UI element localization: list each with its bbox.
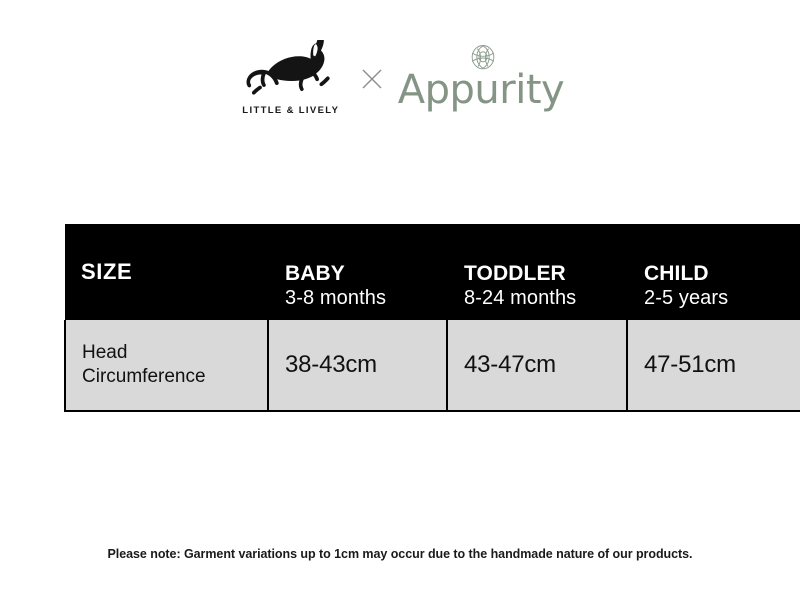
brand-left-label: LITTLE & LIVELY <box>242 105 339 116</box>
cross-icon <box>360 67 384 91</box>
table-header-cell-size: SIZE <box>65 224 268 320</box>
table-body: Head Circumference 38-43cm 43-47cm 47-51… <box>65 320 800 411</box>
table-cell-baby-value: 38-43cm <box>268 320 447 411</box>
measurement-label: Head Circumference <box>82 342 206 387</box>
table-cell-measurement-label: Head Circumference <box>65 320 268 411</box>
brand-right-label: Appurity <box>398 70 564 110</box>
measurement-value-toddler: 43-47cm <box>464 351 556 378</box>
table-header: SIZE BABY 3-8 months TODDLER 8-24 months… <box>65 224 800 320</box>
bunny-icon <box>241 40 341 98</box>
table-row: Head Circumference 38-43cm 43-47cm 47-51… <box>65 320 800 411</box>
table-header-toddler-main: TODDLER <box>464 262 626 286</box>
table-header-row: SIZE BABY 3-8 months TODDLER 8-24 months… <box>65 224 800 320</box>
table-header-cell-toddler: TODDLER 8-24 months <box>447 224 627 320</box>
table-header-child-sub: 2-5 years <box>644 286 800 310</box>
brand-little-and-lively: LITTLE & LIVELY <box>236 40 346 116</box>
table-header-cell-baby: BABY 3-8 months <box>268 224 447 320</box>
table-cell-toddler-value: 43-47cm <box>447 320 627 411</box>
footer-note: Please note: Garment variations up to 1c… <box>0 547 800 561</box>
size-chart-table: SIZE BABY 3-8 months TODDLER 8-24 months… <box>64 224 800 412</box>
table-header-baby-main: BABY <box>285 262 446 286</box>
table-header-baby-sub: 3-8 months <box>285 286 446 310</box>
table-cell-child-value: 47-51cm <box>627 320 800 411</box>
table-header-size-label: SIZE <box>81 259 132 284</box>
table-header-child-main: CHILD <box>644 262 800 286</box>
logo-band: LITTLE & LIVELY Appurity <box>0 28 800 128</box>
brand-appurity: Appurity <box>398 43 564 110</box>
table-header-toddler-sub: 8-24 months <box>464 286 626 310</box>
measurement-value-child: 47-51cm <box>644 351 736 378</box>
measurement-value-baby: 38-43cm <box>285 351 377 378</box>
table-header-cell-child: CHILD 2-5 years <box>627 224 800 320</box>
